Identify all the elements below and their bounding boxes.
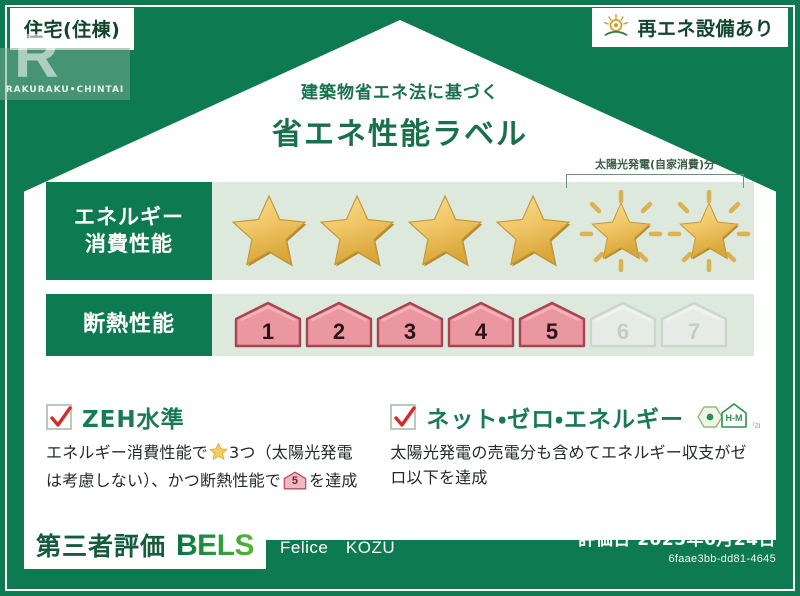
page-title: 省エネ性能ラベル — [0, 109, 800, 153]
insulation-level-4: 4 — [447, 301, 515, 349]
rating-rows: エネルギー 消費性能 太陽光発電(自家消費)分 — [46, 182, 754, 370]
gold-star-icon — [490, 190, 576, 272]
solar-annotation-label: 太陽光発電(自家消費)分 — [566, 156, 744, 172]
criterion-nze-description: 太陽光発電の売電分も含めてエネルギー収支がゼロ以下を達成 — [390, 441, 760, 491]
zeh-desc-part2: は考慮しない）、かつ断熱性能で — [46, 471, 281, 490]
insulation-level-2: 2 — [305, 301, 373, 349]
star-rating — [226, 190, 752, 272]
solar-bracket — [566, 174, 744, 188]
evaluation-date: 評価日 2025年6月24日 — [578, 525, 776, 550]
watermark-logo-mark: R — [14, 26, 59, 88]
building-name: Felice KŌZU — [280, 533, 395, 558]
zeh-desc-part3: を達成 — [309, 471, 358, 490]
inline-gold-star-icon — [209, 442, 228, 469]
insulation-level-scale: 1 2 3 4 5 6 7 — [234, 301, 728, 349]
gold-star-icon — [402, 190, 488, 272]
criterion-nze-title: ネット・ゼロ・エネルギー — [426, 400, 684, 434]
insulation-level-3: 3 — [376, 301, 444, 349]
nze-check-checkbox[interactable] — [390, 404, 416, 430]
energy-performance-label: 住宅(住棟) R RAKURAKU•CHINTAI 再エネ設備あり — [0, 0, 800, 596]
criterion-zeh-header: ZEH水準 — [46, 400, 374, 434]
insulation-level-7: 7 — [660, 301, 728, 349]
insulation-level-5: 5 — [518, 301, 586, 349]
gold-sparkle-star-icon — [666, 190, 752, 272]
bels-japanese-label: 第三者評価 — [36, 527, 166, 563]
solar-annotation: 太陽光発電(自家消費)分 — [566, 156, 744, 172]
criterion-nze-header: ネット・ゼロ・エネルギー H-M 「ZEH-M」 — [390, 400, 760, 434]
evaluation-id: 6faae3bb-dd81-4645 — [578, 553, 776, 565]
zeh-desc-part1: エネルギー消費性能で — [46, 443, 208, 462]
energy-performance-row: エネルギー 消費性能 太陽光発電(自家消費)分 — [46, 182, 754, 280]
energy-row-label-line2: 消費性能 — [85, 231, 173, 258]
insulation-row-label: 断熱性能 — [46, 294, 212, 356]
energy-row-body: 太陽光発電(自家消費)分 — [212, 182, 754, 280]
insulation-level-1: 1 — [234, 301, 302, 349]
svg-text:「ZEH-M」: 「ZEH-M」 — [749, 423, 760, 430]
insulation-row-label-text: 断熱性能 — [83, 311, 175, 340]
renewable-equipment-badge: 再エネ設備あり — [592, 8, 788, 47]
footer-meta: 評価日 2025年6月24日 6faae3bb-dd81-4645 — [578, 525, 776, 565]
criteria-section: ZEH水準 エネルギー消費性能で3つ（太陽光発電は考慮しない）、かつ断熱性能で5… — [46, 400, 760, 494]
watermark: R RAKURAKU•CHINTAI — [0, 48, 130, 100]
footer-bar: 第三者評価 BELS Felice KŌZU 評価日 2025年6月24日 6f… — [24, 516, 776, 574]
insulation-level-6: 6 — [589, 301, 657, 349]
bels-badge: 第三者評価 BELS — [24, 522, 266, 569]
zeh-m-house-logo: H-M 「ZEH-M」 — [696, 400, 760, 434]
zeh-check-checkbox[interactable] — [46, 404, 72, 430]
bels-logo-text: BELS — [176, 529, 254, 563]
energy-row-label: エネルギー 消費性能 — [46, 182, 212, 280]
criterion-zeh-title: ZEH水準 — [82, 400, 185, 434]
criterion-net-zero-energy: ネット・ゼロ・エネルギー H-M 「ZEH-M」 太陽光発電の売電分も含めてエネ… — [390, 400, 760, 494]
gold-star-icon — [314, 190, 400, 272]
gold-star-icon — [226, 190, 312, 272]
renewable-badge-label: 再エネ設備あり — [637, 14, 774, 41]
zeh-desc-starcount: 3つ（太陽光発電 — [229, 443, 353, 462]
insulation-row-body: 1 2 3 4 5 6 7 — [212, 294, 754, 356]
criterion-zeh-standard: ZEH水準 エネルギー消費性能で3つ（太陽光発電は考慮しない）、かつ断熱性能で5… — [46, 400, 374, 494]
sun-solar-icon — [602, 13, 630, 41]
inline-house-number: 5 — [283, 473, 307, 490]
criterion-zeh-description: エネルギー消費性能で3つ（太陽光発電は考慮しない）、かつ断熱性能で5を達成 — [46, 441, 374, 494]
inline-house-level-icon: 5 — [283, 471, 307, 490]
svg-text:H-M: H-M — [726, 413, 743, 423]
watermark-label: RAKURAKU•CHINTAI — [6, 85, 125, 100]
gold-sparkle-star-icon — [578, 190, 664, 272]
insulation-performance-row: 断熱性能 1 2 3 4 5 6 — [46, 294, 754, 356]
energy-row-label-line1: エネルギー — [74, 204, 184, 231]
